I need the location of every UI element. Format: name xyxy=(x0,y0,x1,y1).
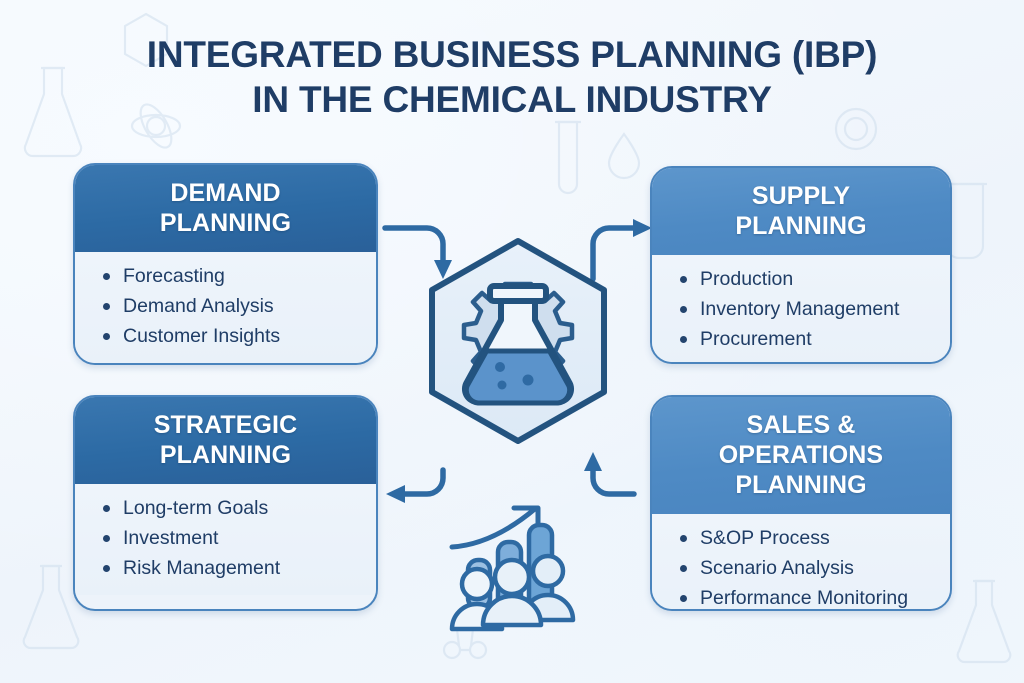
card-list-supply-planning: Production Inventory Management Procurem… xyxy=(678,267,936,352)
infographic-canvas: INTEGRATED BUSINESS PLANNING (IBP) IN TH… xyxy=(0,0,1024,683)
card-header-demand-planning: DEMAND PLANNING xyxy=(75,165,376,252)
arrow-center-to-strategic xyxy=(386,470,443,503)
card-demand-planning[interactable]: DEMAND PLANNING Forecasting Demand Analy… xyxy=(73,163,378,365)
card-header-sales-operations-planning: SALES & OPERATIONS PLANNING xyxy=(652,397,950,514)
arrow-sop-to-center xyxy=(584,452,634,494)
list-item: Long-term Goals xyxy=(101,496,362,526)
list-item: Forecasting xyxy=(101,264,362,294)
card-body-supply-planning: Production Inventory Management Procurem… xyxy=(652,255,950,364)
list-item: Performance Monitoring xyxy=(678,586,936,611)
card-body-strategic-planning: Long-term Goals Investment Risk Manageme… xyxy=(75,484,376,595)
bubble-icon xyxy=(498,381,507,390)
list-item: Procurement xyxy=(678,327,936,352)
list-item: Production xyxy=(678,267,936,297)
list-item: Investment xyxy=(101,526,362,556)
card-title-line-2: PLANNING xyxy=(160,209,291,237)
list-item: Inventory Management xyxy=(678,297,936,327)
card-strategic-planning[interactable]: STRATEGIC PLANNING Long-term Goals Inves… xyxy=(73,395,378,611)
card-title-line-1: DEMAND xyxy=(170,179,280,207)
trend-arrow-icon xyxy=(452,508,538,547)
bubble-icon xyxy=(495,362,505,372)
card-title-line-1: STRATEGIC xyxy=(154,411,298,439)
card-title-line-2: PLANNING xyxy=(160,441,291,469)
card-body-demand-planning: Forecasting Demand Analysis Customer Ins… xyxy=(75,252,376,363)
growth-chart-people-icon xyxy=(444,498,592,633)
card-title-line-1: SUPPLY xyxy=(752,182,850,210)
list-item: Risk Management xyxy=(101,556,362,581)
card-title-line-2: PLANNING xyxy=(735,212,866,240)
list-item: S&OP Process xyxy=(678,526,936,556)
center-icon xyxy=(418,236,618,446)
bubble-icon xyxy=(523,375,534,386)
hexagon-flask-gear-icon xyxy=(418,236,618,446)
test-tube-watermark-icon xyxy=(545,118,591,204)
card-title-line-1: SALES & OPERATIONS xyxy=(719,411,883,469)
bottom-icon xyxy=(444,498,592,633)
card-header-strategic-planning: STRATEGIC PLANNING xyxy=(75,397,376,484)
flask-liquid xyxy=(466,351,569,403)
title-line-2: IN THE CHEMICAL INDUSTRY xyxy=(0,77,1024,122)
card-supply-planning[interactable]: SUPPLY PLANNING Production Inventory Man… xyxy=(650,166,952,364)
list-item: Demand Analysis xyxy=(101,294,362,324)
card-header-supply-planning: SUPPLY PLANNING xyxy=(652,168,950,255)
card-title-line-2: PLANNING xyxy=(735,471,866,499)
list-item: Scenario Analysis xyxy=(678,556,936,586)
title-line-1: INTEGRATED BUSINESS PLANNING (IBP) xyxy=(147,34,878,75)
card-body-sales-operations-planning: S&OP Process Scenario Analysis Performan… xyxy=(652,514,950,611)
flask-watermark-icon xyxy=(952,575,1016,675)
droplet-watermark-icon xyxy=(604,130,644,182)
card-list-demand-planning: Forecasting Demand Analysis Customer Ins… xyxy=(101,264,362,349)
card-sales-operations-planning[interactable]: SALES & OPERATIONS PLANNING S&OP Process… xyxy=(650,395,952,611)
card-list-strategic-planning: Long-term Goals Investment Risk Manageme… xyxy=(101,496,362,581)
list-item: Customer Insights xyxy=(101,324,362,349)
card-list-sales-operations-planning: S&OP Process Scenario Analysis Performan… xyxy=(678,526,936,611)
page-title: INTEGRATED BUSINESS PLANNING (IBP) IN TH… xyxy=(0,32,1024,122)
flask-neck-rim xyxy=(490,286,546,301)
